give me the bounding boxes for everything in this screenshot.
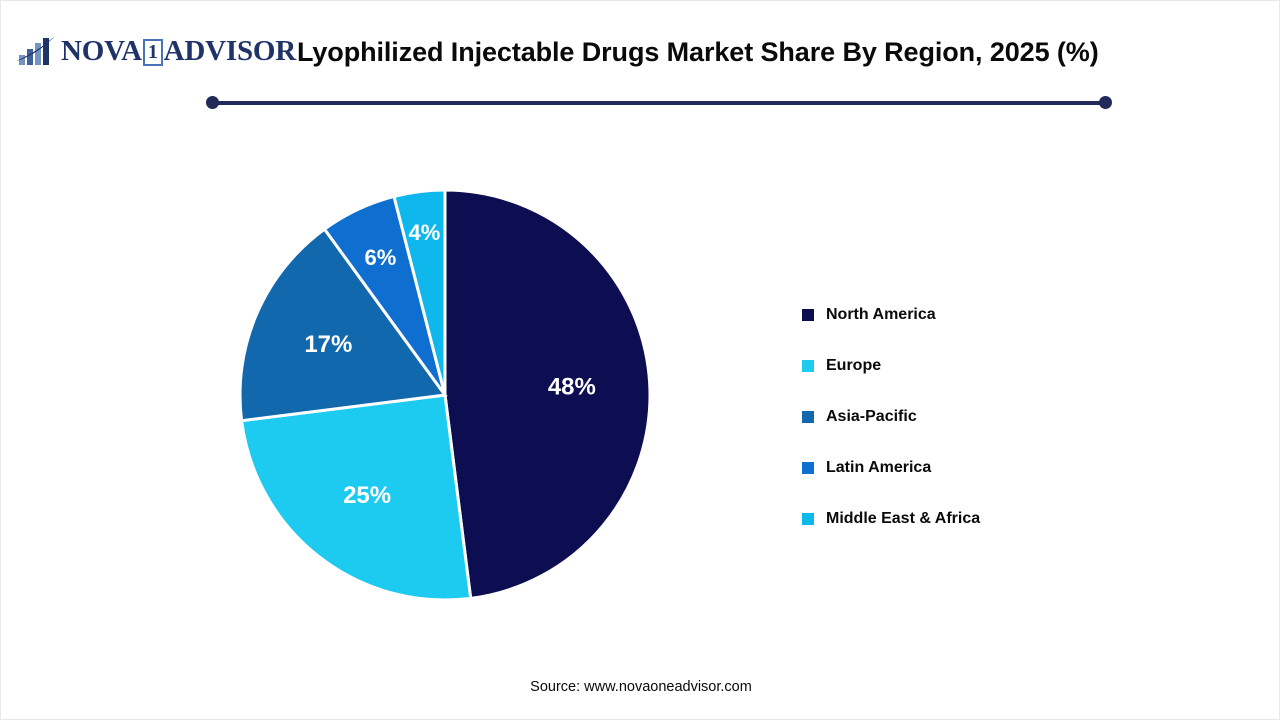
pie-chart: 48%25%17%6%4%	[239, 189, 651, 601]
divider-line	[212, 101, 1106, 105]
legend-swatch-icon	[802, 360, 814, 372]
brand-name-part1: NOVA	[61, 37, 142, 66]
pie-slice-label: 25%	[343, 482, 391, 509]
chart-page: NOVA 1 ADVISOR Lyophilized Injectable Dr…	[0, 0, 1280, 720]
legend-item[interactable]: Middle East & Africa	[802, 493, 1082, 544]
legend-swatch-icon	[802, 513, 814, 525]
legend-item[interactable]: Latin America	[802, 442, 1082, 493]
brand-name-part2: ADVISOR	[164, 37, 296, 66]
brand-logo: NOVA 1 ADVISOR	[15, 31, 296, 71]
legend-item-label: Europe	[826, 357, 881, 375]
bar-chart-swoosh-icon	[15, 35, 59, 67]
legend-item-label: North America	[826, 306, 936, 324]
legend-item-label: Asia-Pacific	[826, 408, 917, 426]
pie-slice-label: 4%	[409, 220, 441, 245]
pie-chart-svg: 48%25%17%6%4%	[239, 189, 651, 601]
chart-legend: North AmericaEuropeAsia-PacificLatin Ame…	[802, 289, 1082, 544]
brand-wordmark: NOVA 1 ADVISOR	[61, 37, 296, 66]
legend-item[interactable]: Europe	[802, 340, 1082, 391]
pie-slice-label: 48%	[548, 374, 596, 401]
pie-slice-label: 17%	[304, 331, 352, 358]
legend-item-label: Latin America	[826, 459, 931, 477]
legend-swatch-icon	[802, 411, 814, 423]
pie-slice-label: 6%	[365, 245, 397, 270]
divider-dot-right	[1099, 96, 1112, 109]
legend-swatch-icon	[802, 462, 814, 474]
legend-item-label: Middle East & Africa	[826, 510, 980, 528]
source-note: Source: www.novaoneadvisor.com	[1, 679, 1280, 695]
page-title: Lyophilized Injectable Drugs Market Shar…	[297, 37, 1272, 68]
legend-item[interactable]: Asia-Pacific	[802, 391, 1082, 442]
legend-swatch-icon	[802, 309, 814, 321]
title-divider	[206, 96, 1112, 109]
legend-item[interactable]: North America	[802, 289, 1082, 340]
brand-badge-one: 1	[143, 39, 163, 66]
